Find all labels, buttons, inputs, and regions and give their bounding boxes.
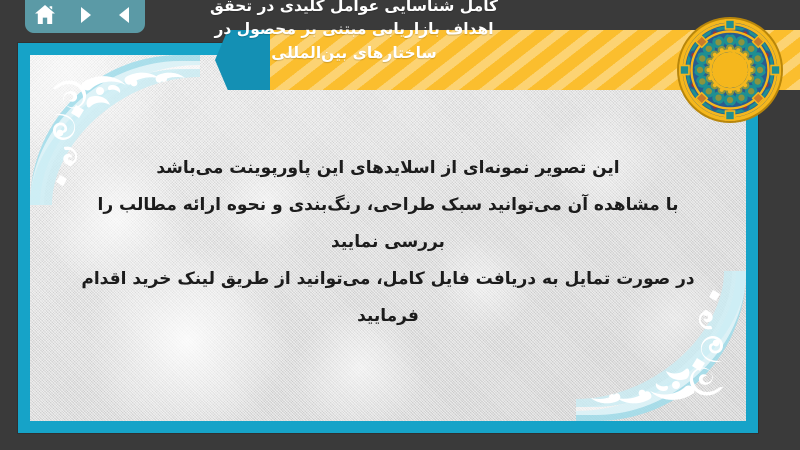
slide-frame: این تصویر نمونه‌ای از اسلایدهای این پاور…: [18, 43, 758, 433]
body-line-2: با مشاهده آن می‌توانید سبک طراحی، رنگ‌بن…: [70, 187, 706, 261]
slide-canvas: این تصویر نمونه‌ای از اسلایدهای این پاور…: [30, 55, 746, 421]
body-line-3: در صورت تمایل به دریافت فایل کامل، می‌تو…: [70, 261, 706, 335]
title-line-1: کامل شناسایی عوامل کلیدی در تحقق: [210, 0, 498, 18]
home-button[interactable]: [30, 2, 60, 28]
previous-slide-button[interactable]: [110, 2, 140, 28]
title-line-2: اهداف بازاریابی مبتنی بر محصول در: [214, 18, 493, 42]
triangle-right-icon: [75, 5, 95, 25]
slide-navigation-toolbar[interactable]: [25, 0, 145, 33]
slide-viewer: این تصویر نمونه‌ای از اسلایدهای این پاور…: [0, 0, 800, 450]
body-line-1: این تصویر نمونه‌ای از اسلایدهای این پاور…: [70, 150, 706, 187]
home-icon: [34, 4, 56, 26]
triangle-left-icon: [115, 5, 135, 25]
next-slide-button[interactable]: [70, 2, 100, 28]
slide-body-text: این تصویر نمونه‌ای از اسلایدهای این پاور…: [70, 150, 706, 335]
